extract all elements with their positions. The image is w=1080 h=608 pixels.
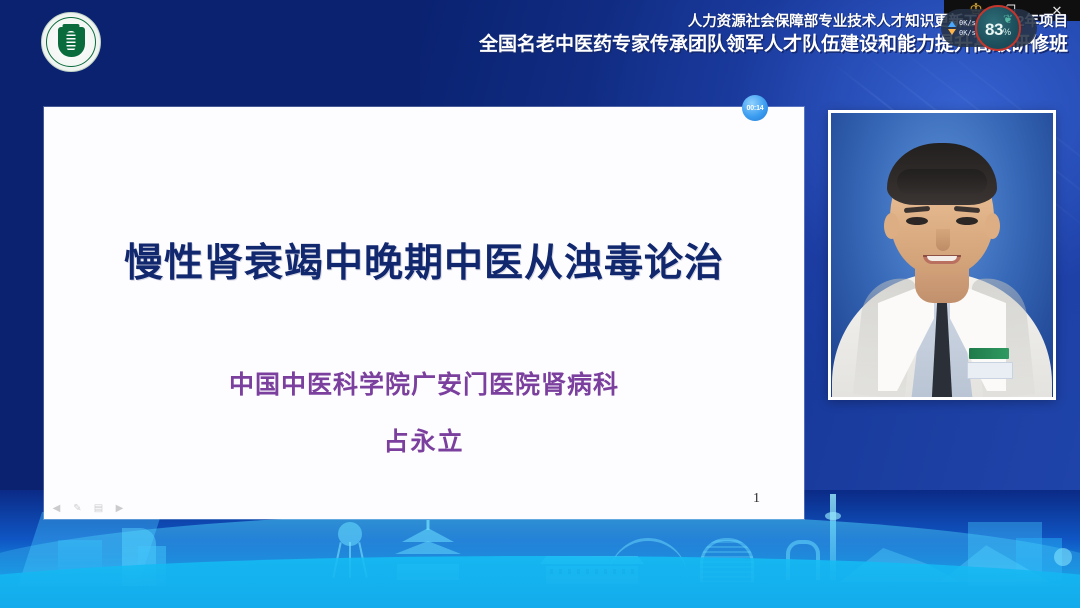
presenter-teeth [927,256,957,261]
presenter-eye [956,217,978,225]
presenter-ear [884,213,899,239]
academy-logo [41,12,101,72]
upload-arrow-icon [948,21,956,27]
gauge-percent-value: 83 [985,7,1003,40]
presenter-name-badge [969,348,1009,359]
next-slide-icon[interactable]: ▶ [113,502,126,515]
presenter-hair [887,143,997,205]
slide-page-number: 1 [753,491,760,507]
slide-author: 占永立 [44,422,804,458]
presenter-video-panel[interactable] [828,110,1056,400]
leaf-icon: ❦ [1003,12,1013,26]
presentation-screen: ❐ ✕ ♔ 0K/s 0K/s ❦ 83 % 人力资源社会保障部专业技术人才知识… [0,0,1080,608]
network-arrows [947,21,957,35]
presenter-id-card [967,362,1013,379]
slideshow-toolbar[interactable]: ◀ ✎ ▤ ▶ [50,502,126,515]
slide-title: 慢性肾衰竭中晚期中医从浊毒论治 [44,232,804,288]
presenter-eye [906,217,928,225]
previous-slide-icon[interactable]: ◀ [50,502,63,515]
presenter-nose [936,229,950,251]
slide-subtitle: 中国中医科学院广安门医院肾病科 [44,365,804,401]
skyline-wave [0,556,1080,608]
download-arrow-icon [948,29,956,35]
presenter-ear [985,213,1000,239]
pen-tool-icon[interactable]: ✎ [71,502,84,515]
logo-emblem-icon [58,27,85,57]
download-speed-text: 0K/s [959,29,976,37]
cpu-usage-gauge[interactable]: ❦ 83 % [975,5,1021,51]
timer-text: 00:14 [747,105,764,112]
presenter-video-frame [831,113,1053,397]
session-timer-badge: 00:14 [742,95,768,121]
slide-canvas[interactable]: 00:14 慢性肾衰竭中晚期中医从浊毒论治 中国中医科学院广安门医院肾病科 占永… [44,107,804,519]
slide-menu-icon[interactable]: ▤ [92,502,105,515]
upload-speed-text: 0K/s [959,19,976,27]
